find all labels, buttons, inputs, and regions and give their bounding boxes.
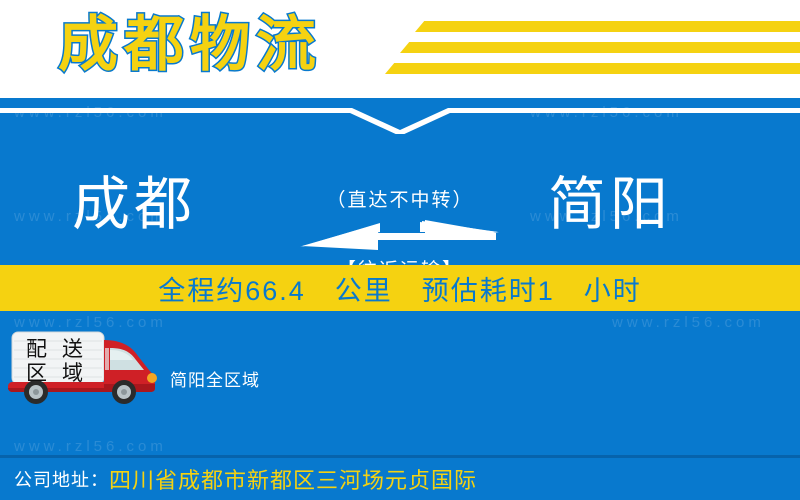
- banner-body: www.rzl56.comwww.rzl56.comwww.rzl56.comw…: [0, 98, 800, 455]
- destination-city: 简阳: [548, 168, 672, 242]
- banner-header: 成都物流: [0, 0, 800, 98]
- route-arrow-wrap: [275, 220, 525, 254]
- delivery-area-text: 简阳全区域: [170, 366, 260, 391]
- truck-label-char-2: 送: [62, 338, 83, 361]
- route-row: 成都 （直达不中转） 【往返运输】 简阳: [0, 148, 800, 268]
- chevron-divider-icon: [0, 104, 800, 134]
- trip-info-bar: 全程约66.4 公里 预估耗时1 小时: [0, 265, 800, 311]
- banner-footer: 公司地址： 四川省成都市新都区三河场元贞国际: [0, 458, 800, 500]
- delivery-row: 配 送 区 域 简阳全区域: [0, 326, 800, 406]
- truck-label-char-4: 域: [62, 362, 83, 385]
- truck-label-char-1: 配: [26, 338, 47, 361]
- delivery-truck-icon: 配 送 区 域: [6, 326, 166, 409]
- double-arrow-icon: [300, 220, 500, 254]
- truck-label-char-3: 区: [26, 362, 47, 385]
- company-address-value: 四川省成都市新都区三河场元贞国际: [109, 463, 477, 495]
- logistics-banner: 成都物流 www.rzl56.comwww.rzl56.comwww.rzl56…: [0, 0, 800, 500]
- stripe-2: [400, 42, 800, 53]
- stripe-1: [415, 21, 800, 32]
- origin-city: 成都: [72, 168, 196, 242]
- header-stripes-decoration: [400, 0, 800, 98]
- route-note-direct: （直达不中转）: [275, 186, 525, 216]
- watermark-7: www.rzl56.com: [14, 438, 167, 455]
- route-middle: （直达不中转） 【往返运输】: [275, 148, 525, 268]
- company-address-label: 公司地址：: [14, 466, 109, 492]
- stripe-3: [385, 63, 800, 74]
- trip-info-text: 全程约66.4 公里 预估耗时1 小时: [158, 269, 642, 308]
- page-title: 成都物流: [58, 6, 322, 84]
